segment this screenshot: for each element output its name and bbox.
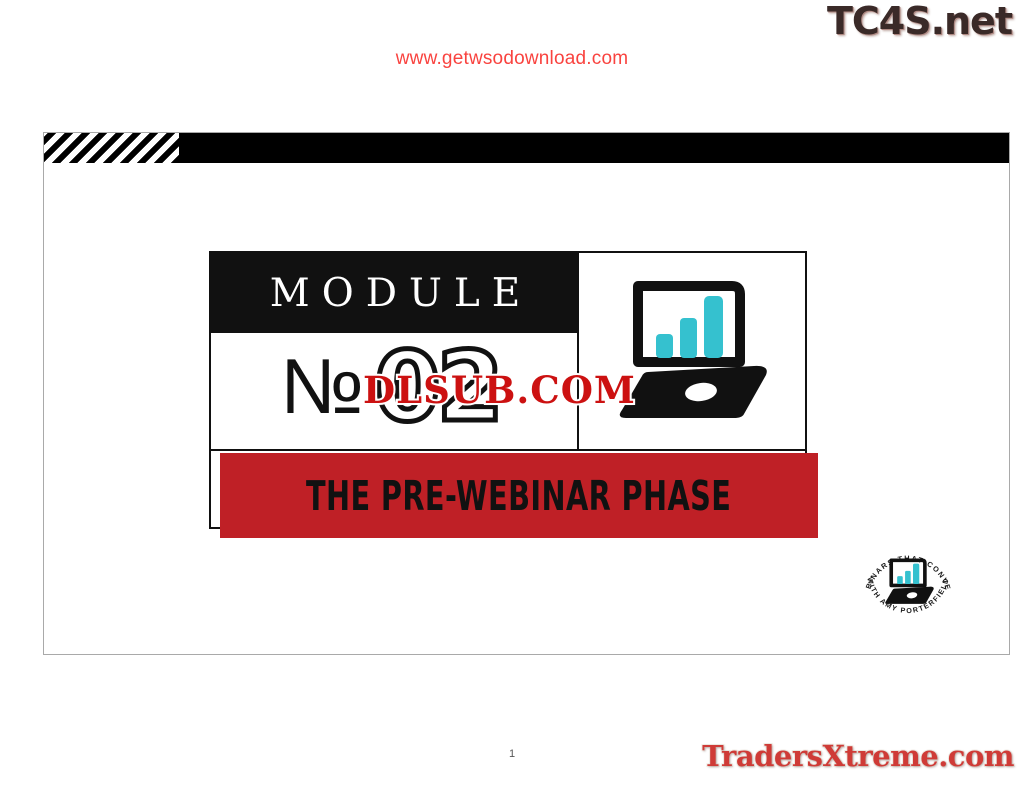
module-header-band: MODULE [211, 253, 579, 333]
laptop-chart-icon [581, 253, 807, 449]
getwso-url-watermark: www.getwsodownload.com [0, 48, 1024, 70]
numero-sign: № [280, 353, 364, 420]
slide-header-bar [44, 133, 1010, 163]
webinars-that-convert-badge: WEBINARS THAT CONVERT WITH AMY PORTERFIE… [856, 531, 960, 635]
banner-title: THE PRE-WEBINAR PHASE [306, 472, 731, 520]
module-title-block: MODULE № 02 [209, 251, 807, 451]
tc4s-watermark-logo: TC4S.net [827, 2, 1012, 40]
dlsub-watermark: DLSUB.COM [363, 368, 636, 412]
banner-red: THE PRE-WEBINAR PHASE [220, 453, 818, 538]
module-label: MODULE [258, 274, 532, 313]
diagonal-stripes-decoration [44, 133, 179, 163]
tradersxtreme-watermark-logo: TradersXtreme.com [702, 742, 1014, 771]
